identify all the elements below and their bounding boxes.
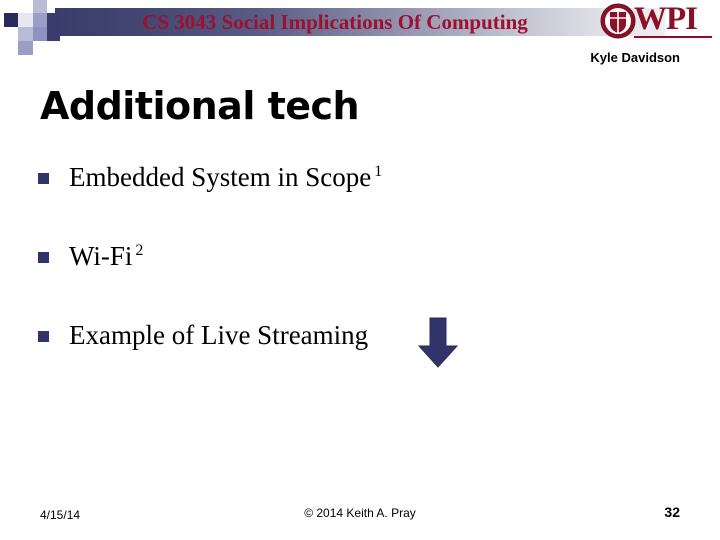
deco-square	[18, 41, 33, 55]
deco-square	[4, 13, 18, 27]
wpi-underline	[634, 36, 712, 38]
list-item: Example of Live Streaming	[38, 318, 678, 352]
wpi-seal-icon	[600, 3, 636, 39]
deco-square	[33, 13, 47, 27]
deco-square	[47, 27, 60, 41]
deco-square	[33, 27, 47, 41]
slide-title: Additional tech	[40, 84, 359, 128]
slide: CS 3043 Social Implications Of Computing	[0, 0, 720, 540]
deco-square	[47, 13, 60, 27]
deco-square	[33, 0, 47, 13]
list-item: Wi-Fi2	[38, 239, 678, 273]
wpi-wordmark: WPI	[634, 0, 697, 38]
deco-square	[18, 27, 33, 41]
slide-header: CS 3043 Social Implications Of Computing	[0, 0, 720, 46]
deco-square	[18, 13, 33, 27]
list-item: Embedded System in Scope1	[38, 160, 678, 194]
decorative-squares	[0, 0, 60, 56]
bullet-square-icon	[38, 173, 49, 184]
bullet-text: Wi-Fi2	[69, 239, 143, 273]
bullet-text: Example of Live Streaming	[69, 318, 368, 352]
footer-copyright: © 2014 Keith A. Pray	[0, 506, 720, 520]
bullet-square-icon	[38, 252, 49, 263]
bullet-text: Embedded System in Scope1	[69, 160, 382, 194]
course-title: CS 3043 Social Implications Of Computing	[55, 8, 615, 36]
bullet-list: Embedded System in Scope1 Wi-Fi2 Example…	[38, 160, 678, 397]
footnote-ref: 2	[135, 242, 143, 259]
down-arrow-icon	[416, 316, 460, 370]
bullet-square-icon	[38, 331, 49, 342]
author-name: Kyle Davidson	[590, 50, 680, 65]
footnote-ref: 1	[374, 163, 382, 180]
wpi-logo: WPI	[600, 2, 712, 42]
footer-page-number: 32	[664, 504, 680, 520]
